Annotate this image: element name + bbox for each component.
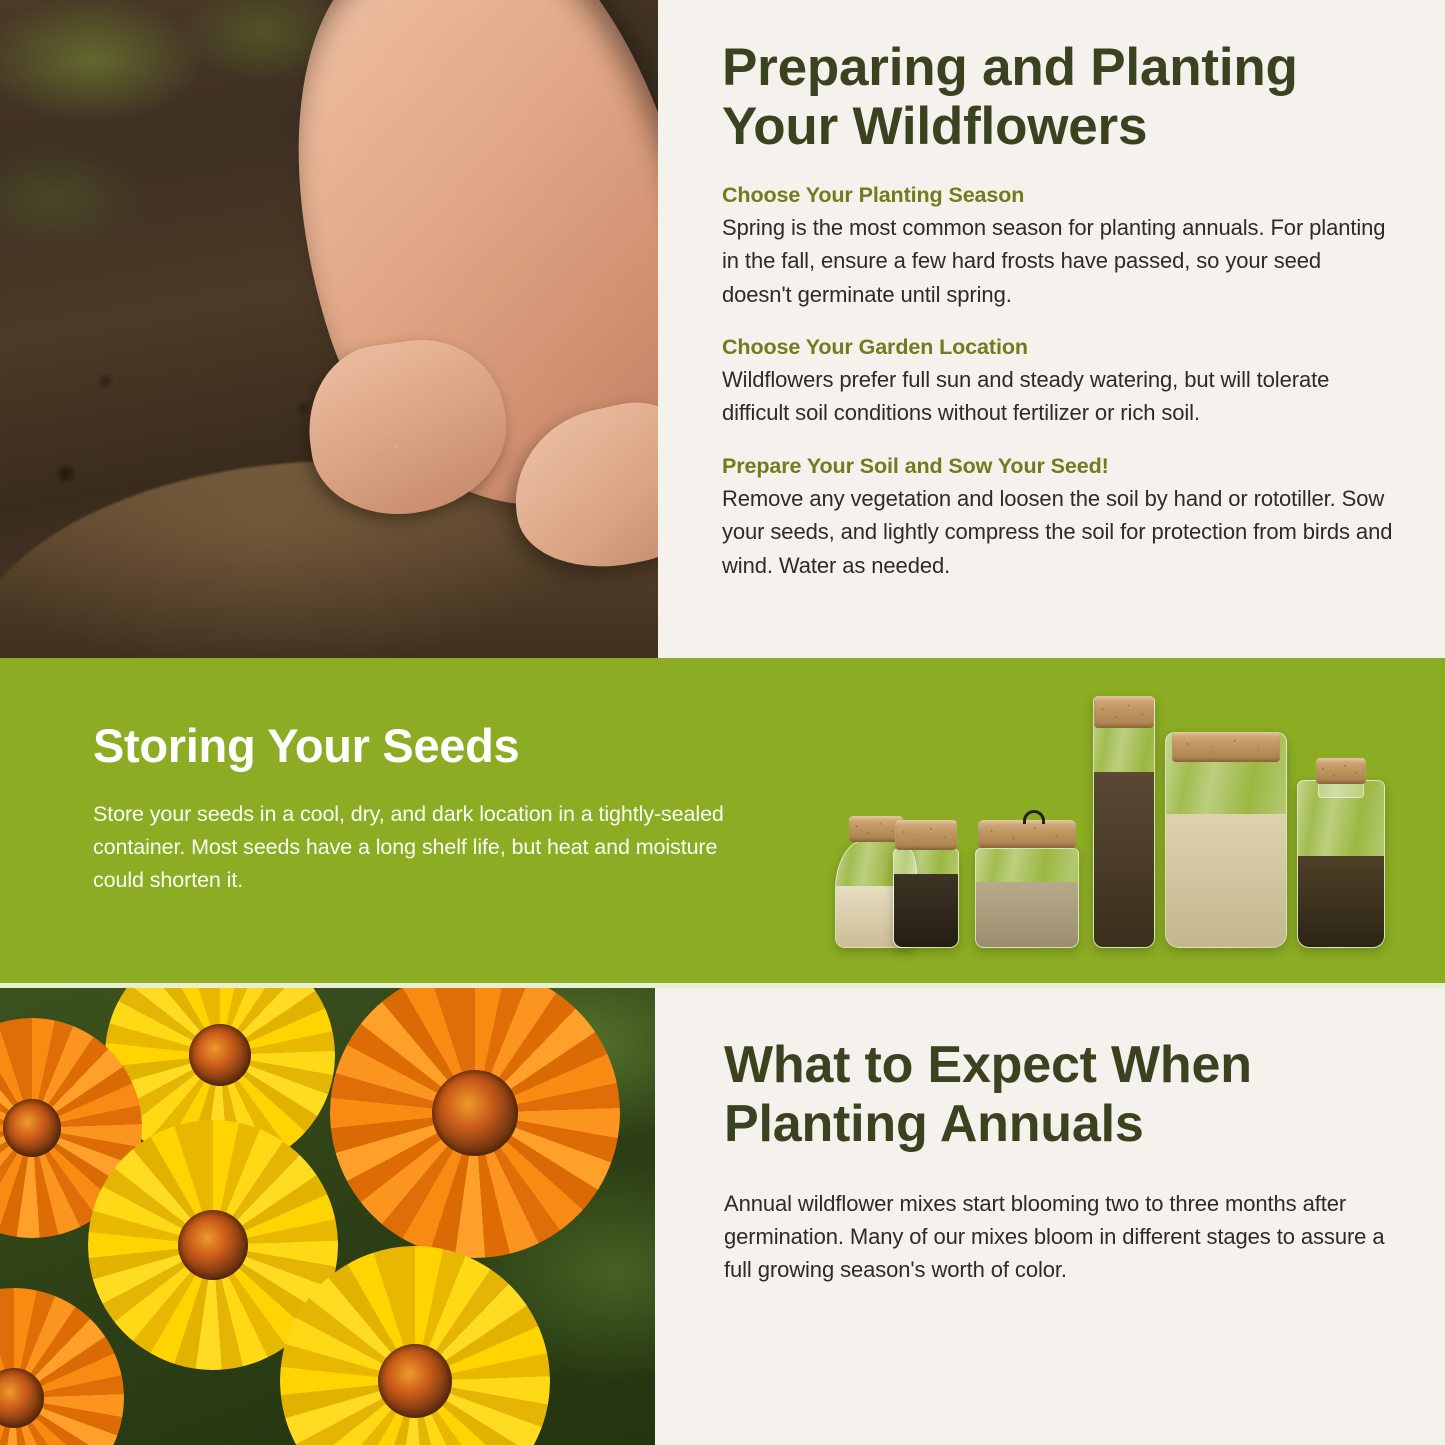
- jar-contents: [976, 882, 1078, 947]
- what-to-expect-title: What to Expect When Planting Annuals: [724, 1036, 1389, 1155]
- section-what-to-expect: What to Expect When Planting Annuals Ann…: [0, 988, 1445, 1445]
- jar-glass: [1297, 780, 1385, 948]
- jar-lid-handle: [1023, 810, 1045, 824]
- storing-seeds-body: Store your seeds in a cool, dry, and dar…: [93, 798, 733, 898]
- body-prepare-soil: Remove any vegetation and loosen the soi…: [722, 482, 1393, 582]
- content-block-prepare-soil: Prepare Your Soil and Sow Your Seed! Rem…: [722, 454, 1393, 582]
- section-preparing-and-planting: Preparing and Planting Your Wildflowers …: [0, 0, 1445, 658]
- section-storing-your-seeds: Storing Your Seeds Store your seeds in a…: [0, 658, 1445, 988]
- flower-center: [3, 1099, 61, 1157]
- top-text-column: Preparing and Planting Your Wildflowers …: [658, 0, 1445, 658]
- seed-jar-tall-tube: [1093, 696, 1155, 948]
- flower-center: [378, 1344, 452, 1418]
- cork-lid: [1316, 758, 1366, 784]
- cork-lid: [1094, 696, 1154, 728]
- body-garden-location: Wildflowers prefer full sun and steady w…: [722, 363, 1393, 430]
- seeds-in-palm: [362, 434, 418, 468]
- seed-jar-black-seeds: [893, 820, 959, 948]
- subheading-garden-location: Choose Your Garden Location: [722, 335, 1393, 360]
- seed-jar-pumpkin-seeds: [1165, 732, 1287, 948]
- flower-center: [432, 1070, 518, 1156]
- green-band-text-column: Storing Your Seeds Store your seeds in a…: [93, 720, 733, 898]
- photo-seed-jars: [835, 688, 1395, 960]
- subheading-planting-season: Choose Your Planting Season: [722, 183, 1393, 208]
- photo-wildflowers: [0, 988, 655, 1445]
- jar-glass: [975, 848, 1079, 948]
- what-to-expect-body: Annual wildflower mixes start blooming t…: [724, 1187, 1389, 1287]
- jar-contents: [1094, 772, 1154, 947]
- photo-hand-sowing-seeds: [0, 0, 658, 658]
- page-title: Preparing and Planting Your Wildflowers: [722, 38, 1393, 157]
- storing-seeds-title: Storing Your Seeds: [93, 720, 733, 772]
- subheading-prepare-soil: Prepare Your Soil and Sow Your Seed!: [722, 454, 1393, 479]
- jar-contents: [1298, 856, 1384, 947]
- jar-glass: [1165, 732, 1287, 948]
- jar-contents: [1166, 814, 1286, 947]
- flower-center: [178, 1210, 248, 1280]
- jar-glass: [893, 848, 959, 948]
- content-block-garden-location: Choose Your Garden Location Wildflowers …: [722, 335, 1393, 430]
- cork-lid: [1172, 732, 1280, 762]
- body-planting-season: Spring is the most common season for pla…: [722, 211, 1393, 311]
- seed-jar-fine-grain: [975, 820, 1079, 948]
- jar-glass: [1093, 696, 1155, 948]
- flower-center: [189, 1024, 251, 1086]
- cork-lid: [895, 820, 957, 850]
- seed-jar-sunflower-seeds: [1297, 758, 1385, 948]
- content-block-planting-season: Choose Your Planting Season Spring is th…: [722, 183, 1393, 311]
- cork-lid: [978, 820, 1076, 848]
- infographic-page: Preparing and Planting Your Wildflowers …: [0, 0, 1445, 1445]
- bottom-text-column: What to Expect When Planting Annuals Ann…: [655, 988, 1445, 1445]
- jar-contents: [894, 874, 958, 947]
